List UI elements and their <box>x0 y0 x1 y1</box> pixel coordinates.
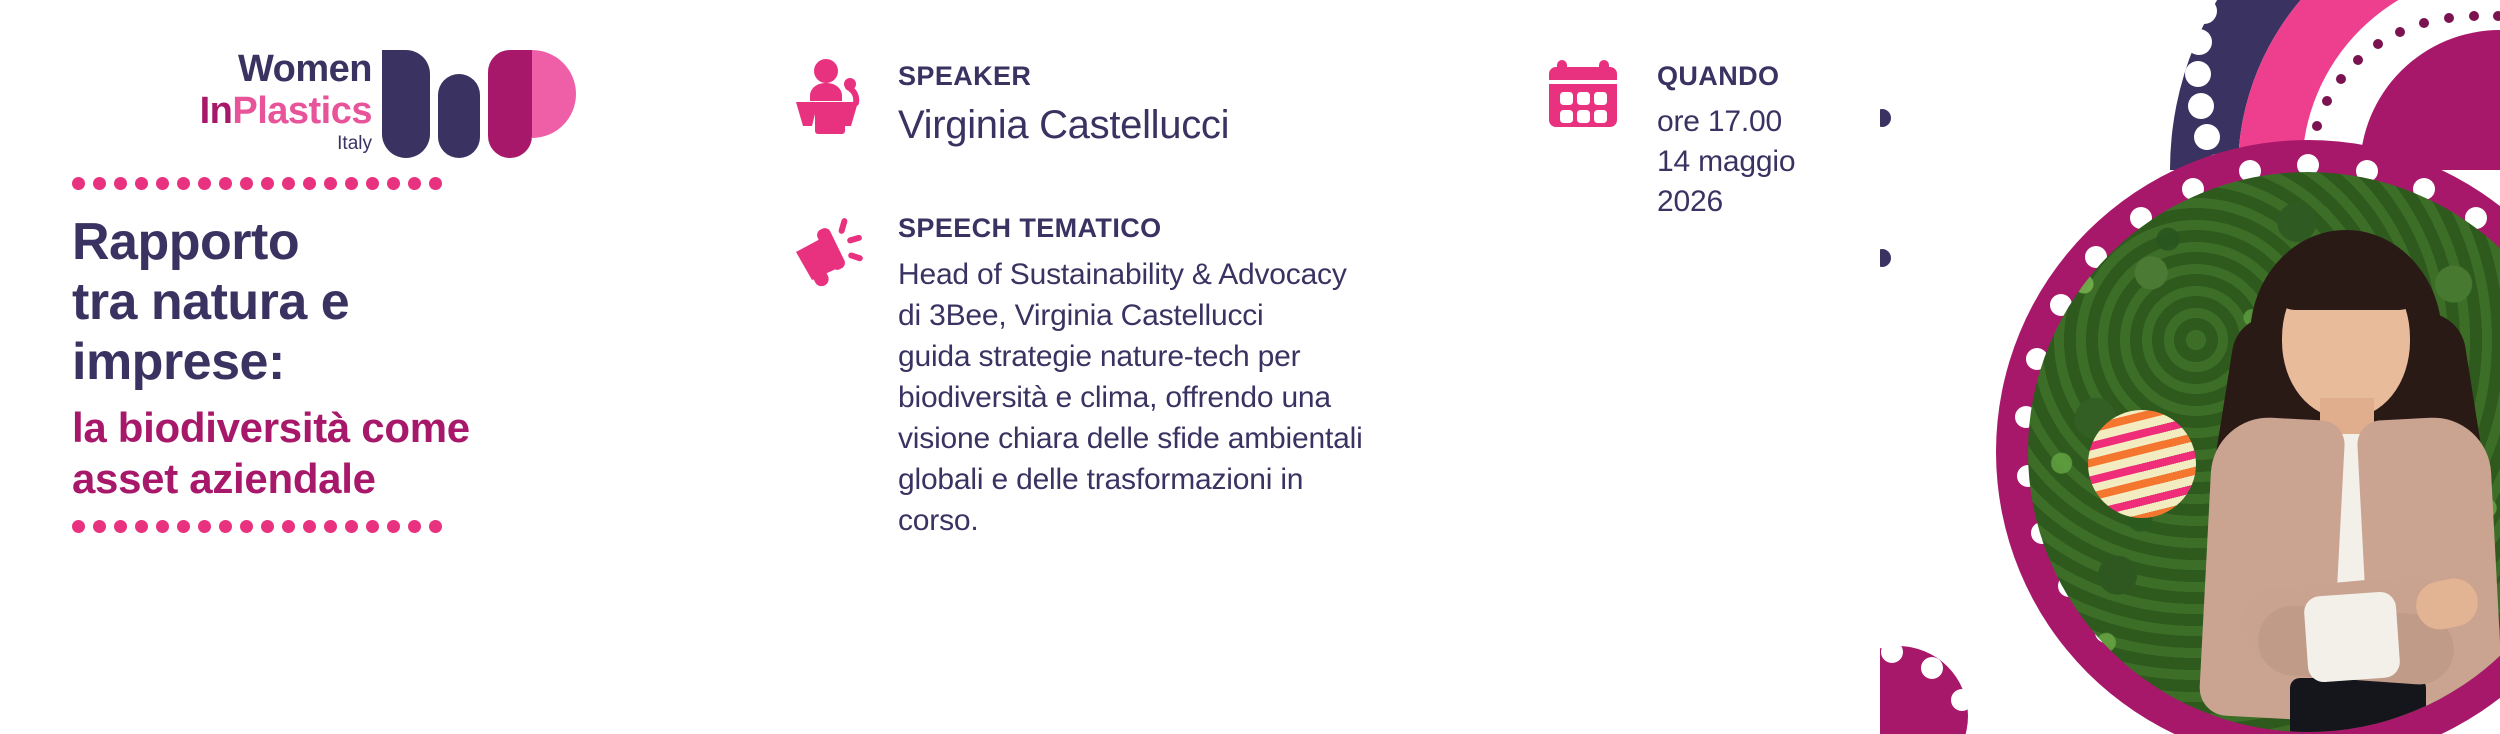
calendar-icon <box>1545 56 1627 138</box>
decorative-artwork <box>1880 0 2500 734</box>
event-banner: Women InPlastics Italy Rapporto tra natu… <box>0 0 2500 734</box>
dot-divider-top <box>72 177 442 190</box>
speech-line-4: biodiversità e clima, offrendo una <box>898 377 1490 418</box>
logo-shape-navy-short <box>438 74 480 158</box>
left-column: Women InPlastics Italy Rapporto tra natu… <box>72 48 712 533</box>
women-in-plastics-logo: Women InPlastics Italy <box>72 48 632 163</box>
speech-line-2: di 3Bee, Virginia Castellucci <box>898 295 1490 336</box>
when-text: QUANDO ore 17.00 14 maggio 2026 <box>1657 56 1795 222</box>
when-line-year: 2026 <box>1657 182 1795 222</box>
butterfly-decor <box>2028 172 2138 250</box>
when-value: ore 17.00 14 maggio 2026 <box>1657 102 1795 222</box>
speaker-text: SPEAKER Virginia Castellucci <box>898 56 1490 150</box>
logo-shape-magenta <box>488 50 532 158</box>
logo-word-in: In <box>200 90 233 132</box>
megaphone-icon <box>790 208 872 290</box>
speech-kicker: SPEECH TEMATICO <box>898 212 1490 244</box>
details-column: SPEAKER Virginia Castellucci SPEECH TEMA… <box>790 56 1490 541</box>
headline-line-1: Rapporto <box>72 212 712 272</box>
page-title: Rapporto tra natura e imprese: <box>72 212 712 392</box>
speaker-figure <box>2178 212 2500 732</box>
logo-wordmark: Women InPlastics Italy <box>72 48 372 156</box>
speech-line-1: Head of Sustainability & Advocacy <box>898 254 1490 295</box>
logo-line-women: Women <box>72 48 372 90</box>
speech-description: Head of Sustainability & Advocacy di 3Be… <box>898 254 1490 541</box>
speaker-block: SPEAKER Virginia Castellucci <box>790 56 1490 150</box>
speech-line-5: visione chiara delle sfide ambientali <box>898 418 1490 459</box>
speech-line-3: guida strategie nature-tech per <box>898 336 1490 377</box>
speech-line-7: corso. <box>898 500 1490 541</box>
speaker-name: Virginia Castellucci <box>898 100 1490 150</box>
logo-glyph-mark <box>382 50 572 158</box>
speech-text: SPEECH TEMATICO Head of Sustainability &… <box>898 208 1490 541</box>
subhead-line-2: asset aziendale <box>72 453 712 504</box>
logo-country-italy: Italy <box>72 132 372 156</box>
when-kicker: QUANDO <box>1657 60 1795 92</box>
logo-shape-navy-tall <box>382 50 430 158</box>
logo-shape-pink-half <box>532 50 576 138</box>
podium-speaker-icon <box>790 56 872 138</box>
logo-line-inplastics: InPlastics <box>72 90 372 132</box>
when-column: QUANDO ore 17.00 14 maggio 2026 <box>1545 56 1875 222</box>
headline-line-2: tra natura e <box>72 272 712 332</box>
speech-line-6: globali e delle trasformazioni in <box>898 459 1490 500</box>
page-subtitle: la biodiversità come asset aziendale <box>72 402 712 504</box>
when-line-time: ore 17.00 <box>1657 102 1795 142</box>
speech-block: SPEECH TEMATICO Head of Sustainability &… <box>790 208 1490 541</box>
dot-divider-bottom <box>72 520 442 533</box>
when-block: QUANDO ore 17.00 14 maggio 2026 <box>1545 56 1875 222</box>
when-line-date: 14 maggio <box>1657 142 1795 182</box>
speaker-kicker: SPEAKER <box>898 60 1490 92</box>
subhead-line-1: la biodiversità come <box>72 402 712 453</box>
headline-line-3: imprese: <box>72 332 712 392</box>
logo-word-plastics: Plastics <box>232 90 372 132</box>
portrait-speaker-photo <box>2028 172 2500 732</box>
